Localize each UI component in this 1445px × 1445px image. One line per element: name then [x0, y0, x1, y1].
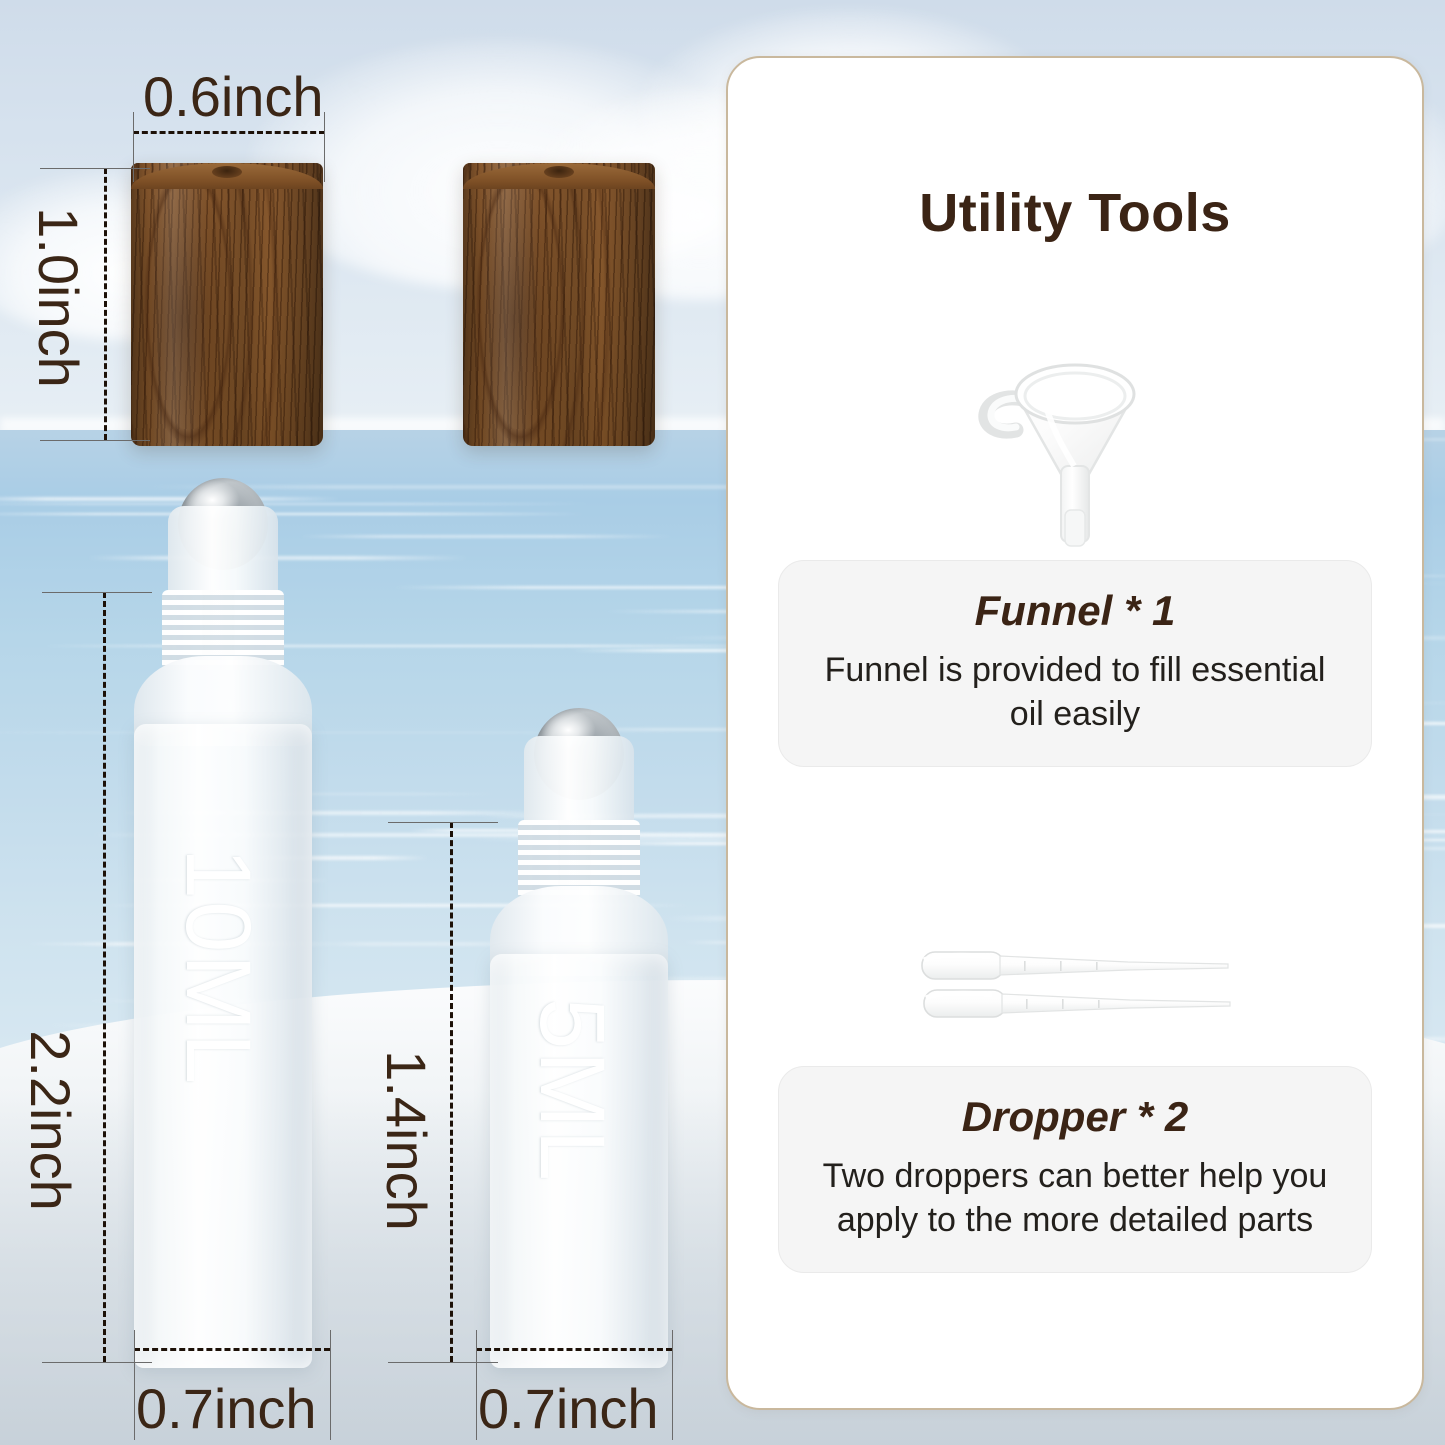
- dimension-line-bottle-large-width: [134, 1348, 330, 1351]
- dimension-line-cap-height: [104, 168, 107, 440]
- roller-bottle-5ml: 5ML: [476, 708, 686, 1368]
- wood-cap-large: [131, 163, 323, 446]
- dimension-bottle-small-width: 0.7inch: [478, 1376, 659, 1441]
- extension-line: [476, 1330, 477, 1440]
- bottle-collar: [168, 506, 278, 598]
- dropper-info-card: Dropper * 2 Two droppers can better help…: [778, 1066, 1372, 1273]
- dropper-card-body: Two droppers can better help you apply t…: [779, 1155, 1371, 1272]
- wood-grain-rings: [463, 163, 655, 446]
- extension-line: [330, 1330, 331, 1440]
- funnel-card-title: Funnel * 1: [779, 587, 1371, 635]
- extension-line: [133, 112, 134, 182]
- extension-line: [672, 1330, 673, 1440]
- extension-line: [388, 1362, 498, 1363]
- wood-cap-small: [463, 163, 655, 446]
- bottle-collar: [524, 736, 634, 828]
- extension-line: [40, 168, 150, 169]
- dimension-cap-height: 1.0inch: [26, 207, 91, 388]
- dropper-icon: [728, 938, 1422, 1028]
- funnel-card-body: Funnel is provided to fill essential oil…: [779, 649, 1371, 766]
- extension-line: [42, 1362, 152, 1363]
- extension-line: [324, 112, 325, 182]
- panel-title: Utility Tools: [728, 182, 1422, 244]
- infographic-canvas: 10ML 5ML 0.6inch 1.0inch 2.2inch 0.7inch…: [0, 0, 1445, 1445]
- roller-bottle-10ml: 10ML: [118, 478, 328, 1368]
- dropper-card-title: Dropper * 2: [779, 1093, 1371, 1141]
- wood-grain-rings: [131, 163, 323, 446]
- dimension-bottle-large-height: 2.2inch: [18, 1030, 83, 1211]
- funnel-icon: [950, 314, 1200, 564]
- extension-line: [42, 592, 152, 593]
- funnel-info-card: Funnel * 1 Funnel is provided to fill es…: [778, 560, 1372, 767]
- dimension-line-bottle-large-height: [103, 592, 106, 1362]
- dimension-line-bottle-small-width: [476, 1348, 672, 1351]
- extension-line: [388, 822, 498, 823]
- utility-tools-panel: Utility Tools: [726, 56, 1424, 1410]
- dimension-line-cap-width: [133, 131, 325, 134]
- extension-line: [134, 1330, 135, 1440]
- bottle-capacity-label: 5ML: [519, 998, 624, 1183]
- cap-hole: [212, 166, 242, 178]
- cap-hole: [544, 166, 574, 178]
- dimension-line-bottle-small-height: [450, 822, 453, 1362]
- dimension-cap-width: 0.6inch: [143, 64, 324, 129]
- dimension-bottle-small-height: 1.4inch: [374, 1050, 439, 1231]
- extension-line: [40, 440, 150, 441]
- dimension-bottle-large-width: 0.7inch: [136, 1376, 317, 1441]
- bottle-capacity-label: 10ML: [165, 848, 270, 1086]
